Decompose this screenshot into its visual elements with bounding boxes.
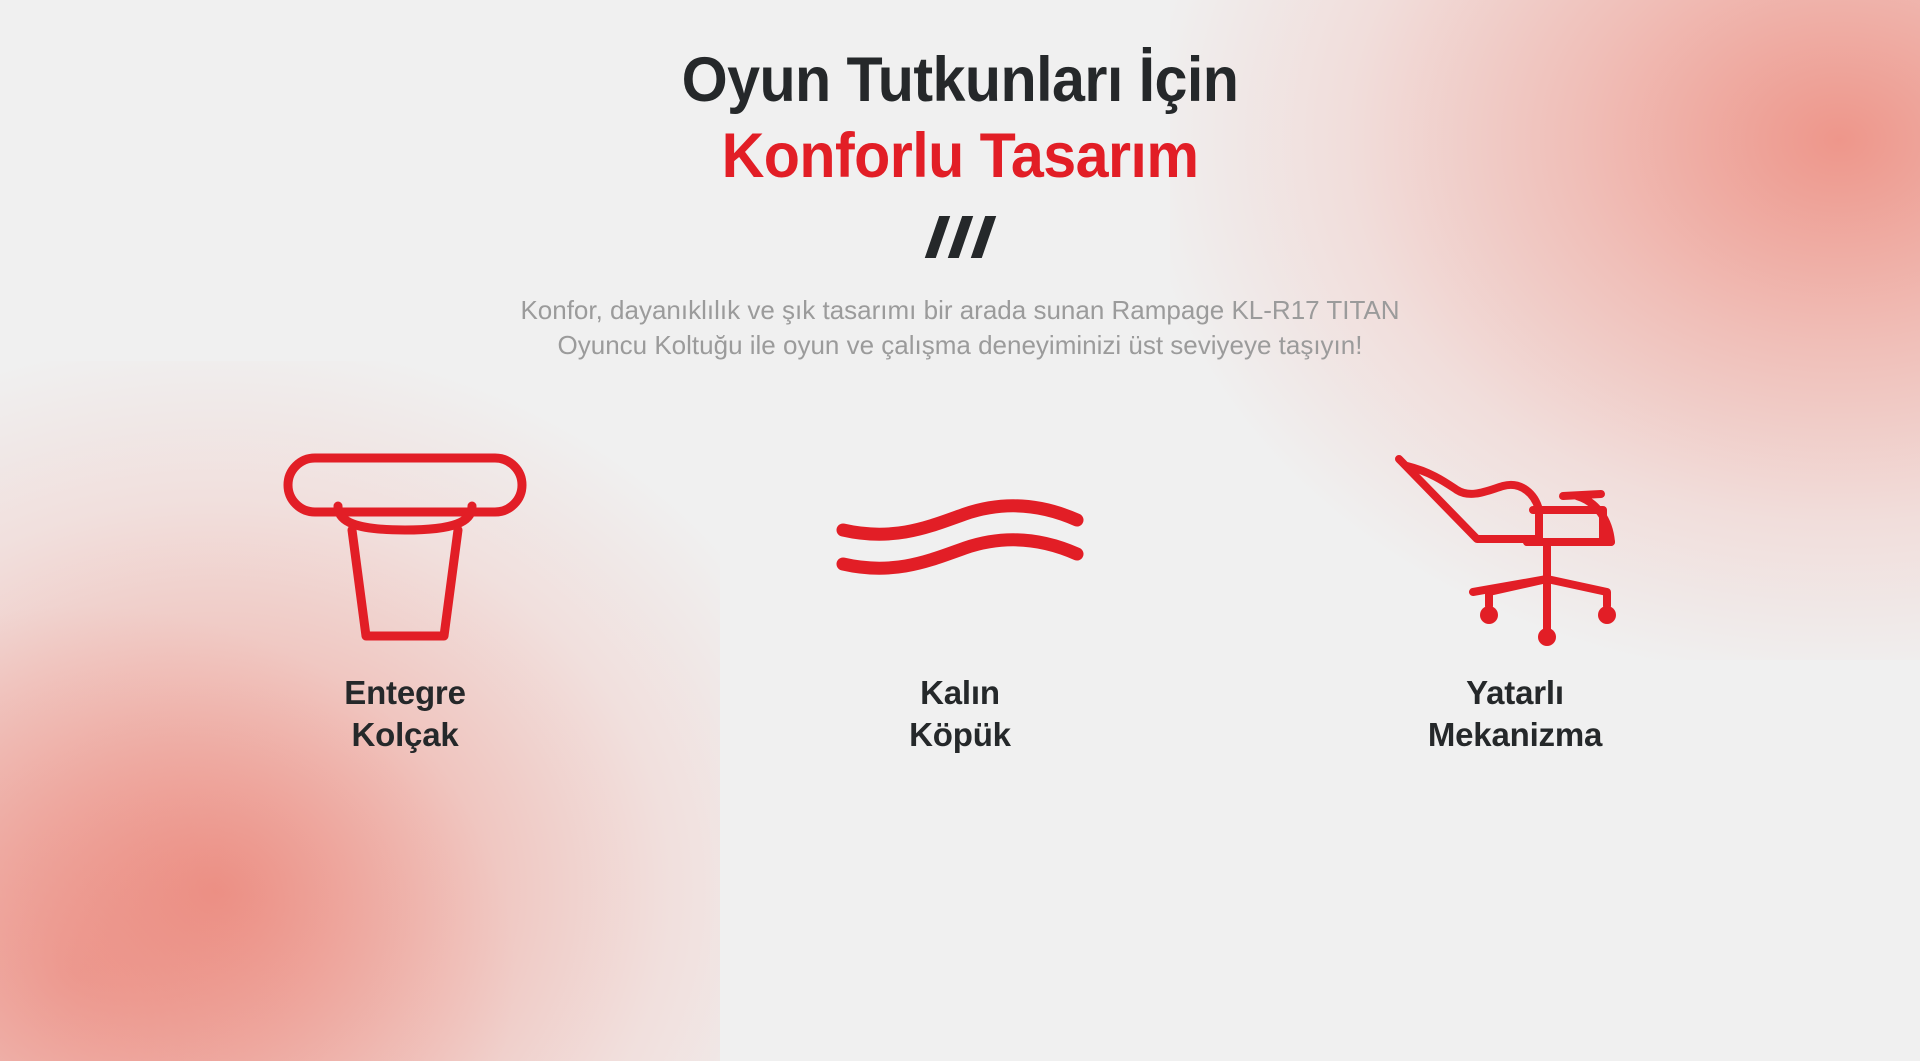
feature-label-line-1: Kalın bbox=[909, 672, 1011, 714]
feature-label-entegre-kolcak: Entegre Kolçak bbox=[344, 672, 465, 756]
feature-label-line-1: Yatarlı bbox=[1428, 672, 1602, 714]
feature-label-line-2: Mekanizma bbox=[1428, 714, 1602, 756]
subtitle-line-1: Konfor, dayanıklılık ve şık tasarımı bir… bbox=[370, 293, 1550, 328]
feature-item-kalin-kopuk: Kalın Köpük bbox=[750, 426, 1170, 756]
feature-label-yatarli-mekanizma: Yatarlı Mekanizma bbox=[1428, 672, 1602, 756]
product-feature-banner: Oyun Tutkunları İçin Konforlu Tasarım Ko… bbox=[0, 0, 1920, 1061]
headline-line-1: Oyun Tutkunları İçin bbox=[58, 44, 1863, 116]
banner-header: Oyun Tutkunları İçin Konforlu Tasarım Ko… bbox=[0, 0, 1920, 364]
slash-bar-2 bbox=[947, 216, 972, 258]
reclining-chair-icon bbox=[1385, 426, 1645, 666]
slash-bar-1 bbox=[924, 216, 949, 258]
feature-label-line-2: Köpük bbox=[909, 714, 1011, 756]
subtitle-line-2: Oyuncu Koltuğu ile oyun ve çalışma deney… bbox=[370, 328, 1550, 363]
feature-item-yatarli-mekanizma: Yatarlı Mekanizma bbox=[1305, 426, 1725, 756]
armrest-icon bbox=[280, 426, 530, 666]
subtitle: Konfor, dayanıklılık ve şık tasarımı bir… bbox=[370, 293, 1550, 364]
slash-divider bbox=[0, 215, 1920, 259]
feature-label-kalin-kopuk: Kalın Köpük bbox=[909, 672, 1011, 756]
feature-label-line-2: Kolçak bbox=[344, 714, 465, 756]
feature-label-line-1: Entegre bbox=[344, 672, 465, 714]
feature-list: Entegre Kolçak Kalın Köpük bbox=[0, 426, 1920, 756]
foam-waves-icon bbox=[835, 426, 1085, 666]
slash-bar-3 bbox=[970, 216, 995, 258]
feature-item-entegre-kolcak: Entegre Kolçak bbox=[195, 426, 615, 756]
headline-line-2: Konforlu Tasarım bbox=[58, 120, 1863, 192]
